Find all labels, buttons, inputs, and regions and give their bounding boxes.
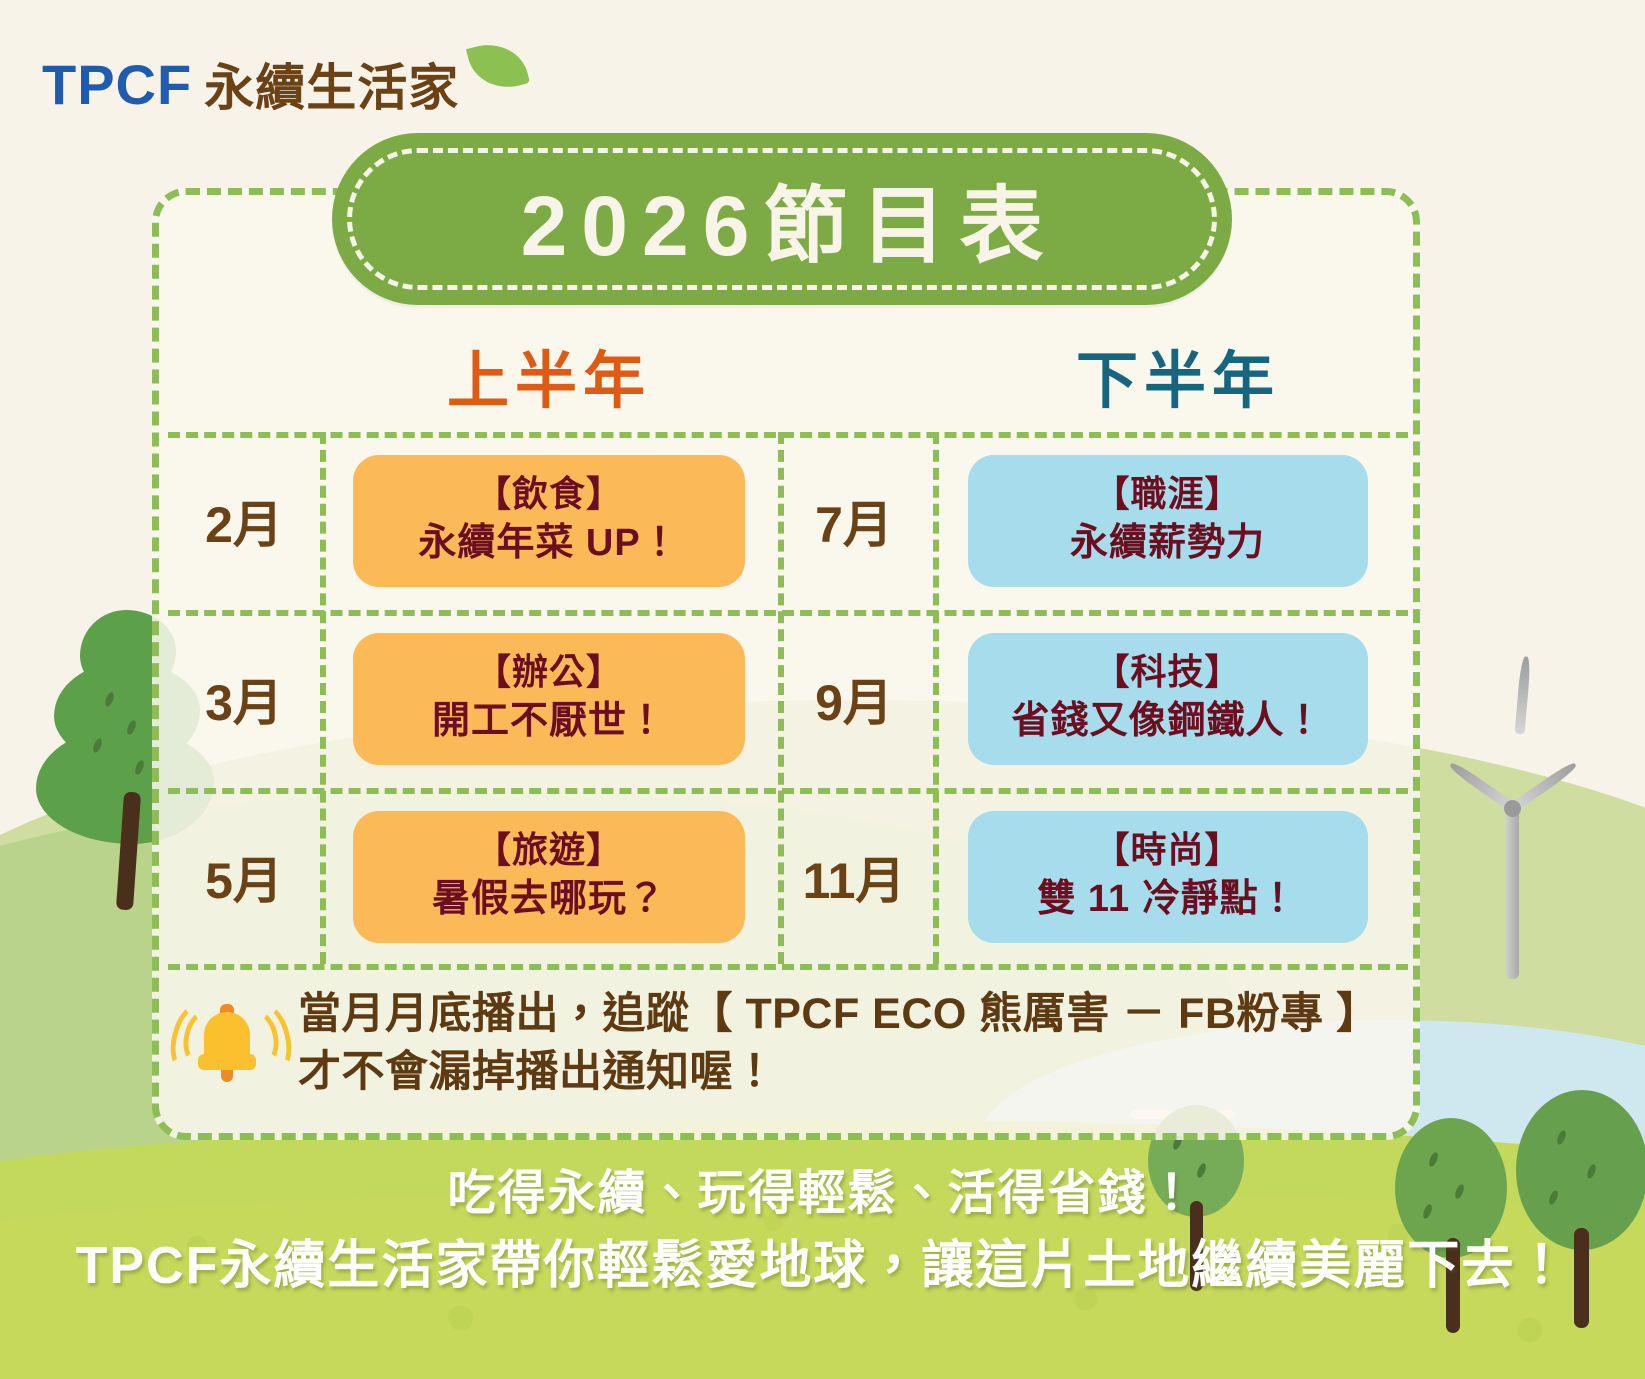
broadcast-note: 當月月底播出，追蹤【 TPCF ECO 熊厲害 － FB粉專 】 才不會漏掉播出…	[176, 985, 1406, 1101]
topic-name: 永續薪勢力	[978, 520, 1358, 568]
topic-name: 永續年菜 UP！	[363, 520, 735, 568]
month-label: 5月	[168, 841, 320, 913]
topic-card[interactable]: 【辦公】 開工不厭世！	[353, 633, 745, 766]
topic-name: 省錢又像鋼鐵人！	[978, 698, 1358, 746]
schedule-grid: 2月 【飲食】 永續年菜 UP！ 7月 【職涯】 永續薪勢力 3月	[168, 432, 1408, 964]
topic-card[interactable]: 【旅遊】 暑假去哪玩？	[353, 811, 745, 944]
month-label: 11月	[778, 841, 930, 913]
month-label: 7月	[778, 485, 930, 557]
table-row: 5月 【旅遊】 暑假去哪玩？ 11月 【時尚】 雙 11 冷靜點！	[168, 788, 1408, 966]
poster-canvas: TPCF 永續生活家 2026節目表 上半年 下半年 2月 【飲食】	[0, 0, 1645, 1379]
month-label: 3月	[168, 663, 320, 735]
table-row: 3月 【辦公】 開工不厭世！ 9月 【科技】 省錢又像鋼鐵人！	[168, 610, 1408, 788]
topic-cell-second-half: 【科技】 省錢又像鋼鐵人！	[930, 633, 1405, 766]
month-label: 9月	[778, 663, 930, 735]
bell-icon	[176, 988, 276, 1098]
page-title: 2026節目表	[507, 159, 1058, 280]
wind-turbine-icon	[1452, 752, 1572, 982]
table-row: 2月 【飲食】 永續年菜 UP！ 7月 【職涯】 永續薪勢力	[168, 432, 1408, 610]
note-line-1: 當月月底播出，追蹤【 TPCF ECO 熊厲害 － FB粉專 】	[298, 985, 1379, 1043]
leaf-icon	[467, 36, 529, 98]
column-header-second-half: 下半年	[1076, 330, 1280, 420]
topic-cell-first-half: 【旅遊】 暑假去哪玩？	[320, 811, 778, 944]
topic-cell-second-half: 【職涯】 永續薪勢力	[930, 455, 1405, 588]
topic-cell-first-half: 【辦公】 開工不厭世！	[320, 633, 778, 766]
tagline-block: 吃得永續、玩得輕鬆、活得省錢！ TPCF永續生活家帶你輕鬆愛地球，讓這片土地繼續…	[0, 1162, 1645, 1301]
topic-name: 暑假去哪玩？	[363, 876, 735, 924]
column-header-first-half: 上半年	[447, 330, 651, 420]
topic-category: 【飲食】	[363, 471, 735, 516]
note-text: 當月月底播出，追蹤【 TPCF ECO 熊厲害 － FB粉專 】 才不會漏掉播出…	[298, 985, 1379, 1101]
topic-card[interactable]: 【職涯】 永續薪勢力	[968, 455, 1368, 588]
topic-cell-second-half: 【時尚】 雙 11 冷靜點！	[930, 811, 1405, 944]
month-label: 2月	[168, 485, 320, 557]
note-line-2: 才不會漏掉播出通知喔！	[298, 1043, 1379, 1101]
topic-name: 開工不厭世！	[363, 698, 735, 746]
topic-card[interactable]: 【時尚】 雙 11 冷靜點！	[968, 811, 1368, 944]
title-banner: 2026節目表	[332, 133, 1232, 305]
topic-cell-first-half: 【飲食】 永續年菜 UP！	[320, 455, 778, 588]
topic-card[interactable]: 【飲食】 永續年菜 UP！	[353, 455, 745, 588]
topic-name: 雙 11 冷靜點！	[978, 876, 1358, 924]
tagline-line-2: TPCF永續生活家帶你輕鬆愛地球，讓這片土地繼續美麗下去！	[0, 1231, 1645, 1301]
topic-category: 【科技】	[978, 649, 1358, 694]
tagline-line-1: 吃得永續、玩得輕鬆、活得省錢！	[0, 1162, 1645, 1227]
brand-name-zh: 永續生活家	[204, 48, 459, 120]
topic-card[interactable]: 【科技】 省錢又像鋼鐵人！	[968, 633, 1368, 766]
topic-category: 【職涯】	[978, 471, 1358, 516]
brand-name-en: TPCF	[42, 52, 192, 117]
topic-category: 【時尚】	[978, 827, 1358, 872]
topic-category: 【辦公】	[363, 649, 735, 694]
brand-logo: TPCF 永續生活家	[42, 36, 529, 132]
topic-category: 【旅遊】	[363, 827, 735, 872]
